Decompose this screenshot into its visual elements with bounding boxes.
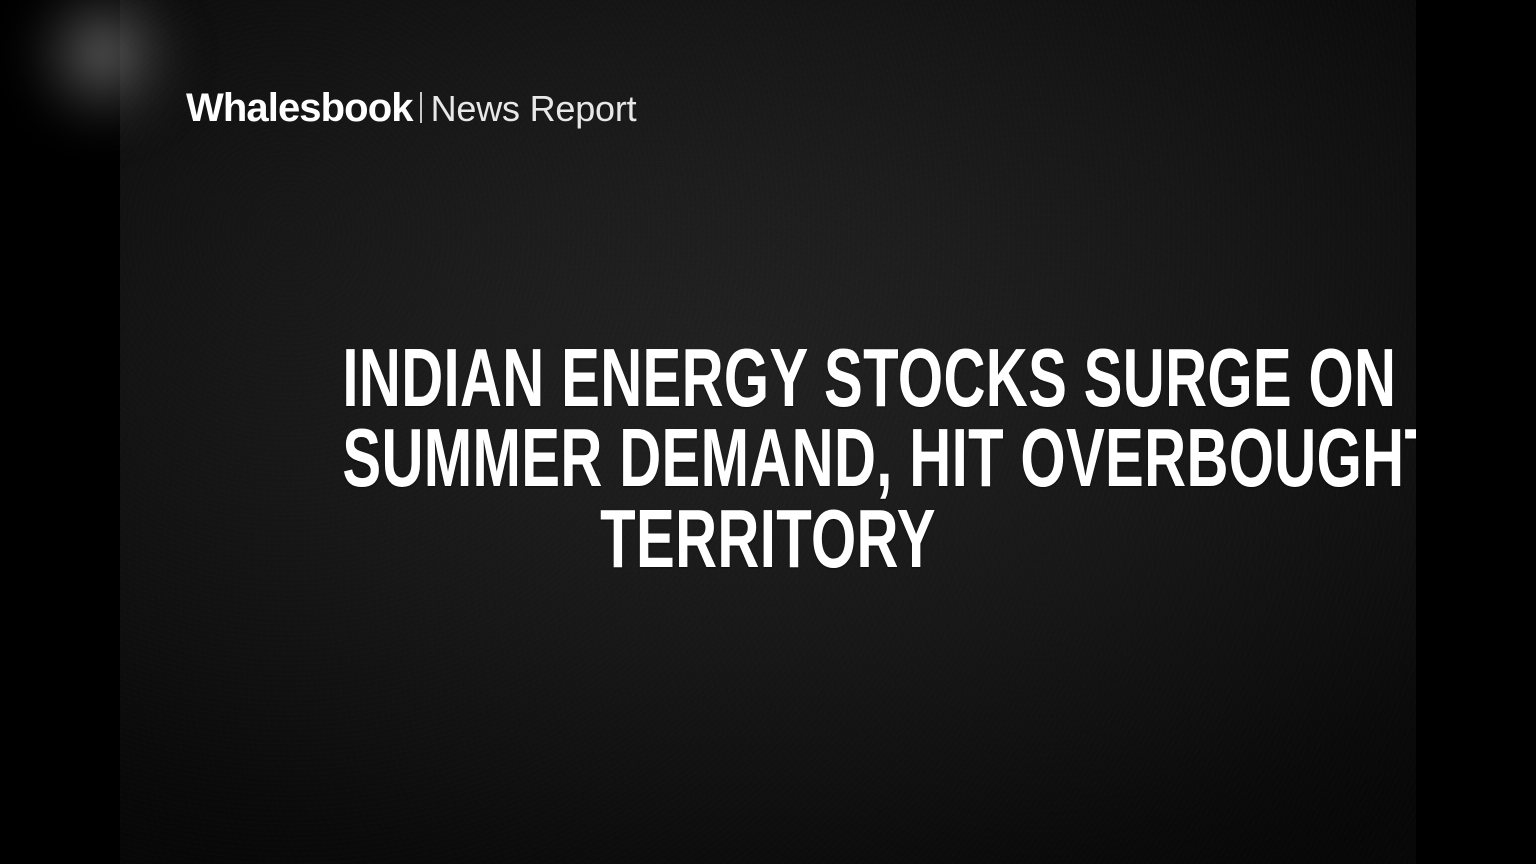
headline-line-2: SUMMER DEMAND, HIT OVERBOUGHT bbox=[342, 418, 1193, 499]
brand-divider bbox=[420, 92, 422, 123]
headline: INDIAN ENERGY STOCKS SURGE ON SUMMER DEM… bbox=[314, 338, 1221, 580]
headline-line-3: TERRITORY bbox=[342, 499, 1193, 580]
content-panel: Whalesbook News Report INDIAN ENERGY STO… bbox=[120, 0, 1416, 864]
headline-line-1: INDIAN ENERGY STOCKS SURGE ON bbox=[342, 338, 1193, 419]
news-report-card: Whalesbook News Report INDIAN ENERGY STO… bbox=[0, 0, 1536, 864]
brand-name: Whalesbook bbox=[186, 88, 413, 128]
brand-lockup[interactable]: Whalesbook News Report bbox=[186, 88, 636, 128]
brand-kicker: News Report bbox=[431, 91, 637, 127]
panel-content: Whalesbook News Report INDIAN ENERGY STO… bbox=[120, 0, 1416, 864]
